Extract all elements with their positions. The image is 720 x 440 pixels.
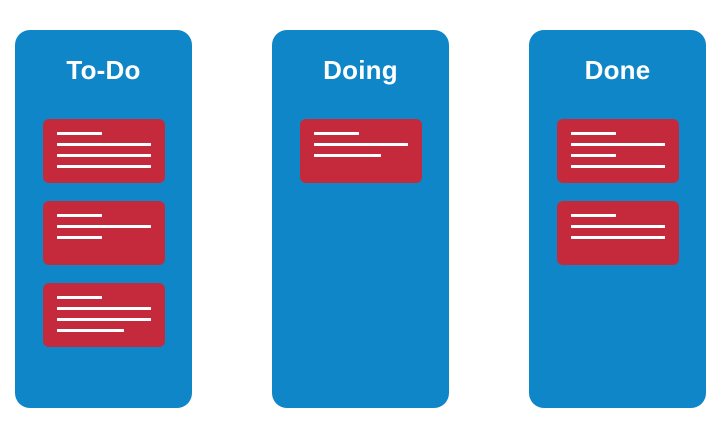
card-stack bbox=[15, 119, 192, 365]
card-text-line bbox=[57, 307, 151, 310]
card-stack bbox=[529, 119, 706, 283]
kanban-card[interactable] bbox=[43, 201, 165, 265]
kanban-board: To-DoDoingDone bbox=[0, 0, 720, 440]
card-text-line bbox=[57, 318, 151, 321]
card-text-line bbox=[571, 225, 665, 228]
column-title: Done bbox=[529, 55, 706, 85]
card-text-line bbox=[57, 329, 125, 332]
card-text-line bbox=[571, 143, 665, 146]
card-text-line bbox=[57, 214, 102, 217]
card-text-line bbox=[57, 296, 102, 299]
card-stack bbox=[272, 119, 449, 201]
kanban-card[interactable] bbox=[300, 119, 422, 183]
kanban-card[interactable] bbox=[557, 119, 679, 183]
card-text-line bbox=[57, 236, 102, 239]
card-text-line bbox=[571, 214, 616, 217]
column-title: Doing bbox=[272, 55, 449, 85]
kanban-column-to-do[interactable]: To-Do bbox=[15, 30, 192, 408]
card-text-line bbox=[571, 236, 665, 239]
kanban-card[interactable] bbox=[43, 283, 165, 347]
card-text-line bbox=[571, 132, 616, 135]
kanban-card[interactable] bbox=[557, 201, 679, 265]
card-text-line bbox=[57, 165, 151, 168]
card-text-line bbox=[57, 143, 151, 146]
card-text-line bbox=[57, 225, 151, 228]
card-text-line bbox=[314, 143, 408, 146]
card-text-line bbox=[57, 132, 102, 135]
card-text-line bbox=[314, 154, 382, 157]
card-text-line bbox=[314, 132, 359, 135]
column-title: To-Do bbox=[15, 55, 192, 85]
kanban-column-doing[interactable]: Doing bbox=[272, 30, 449, 408]
kanban-card[interactable] bbox=[43, 119, 165, 183]
card-text-line bbox=[571, 154, 616, 157]
kanban-column-done[interactable]: Done bbox=[529, 30, 706, 408]
card-text-line bbox=[571, 165, 665, 168]
card-text-line bbox=[57, 154, 151, 157]
